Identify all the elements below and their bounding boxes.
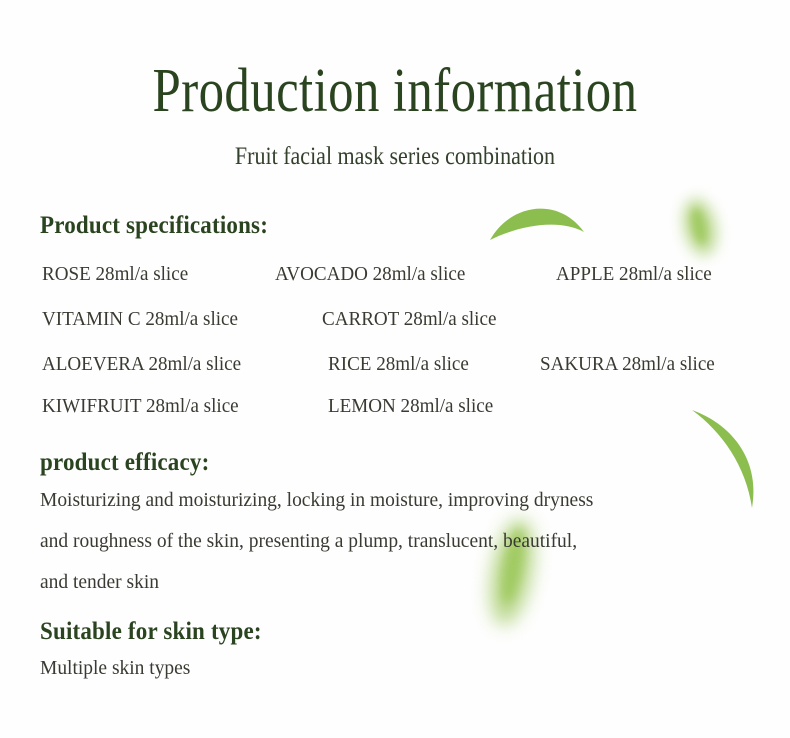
content-layer: Production information Fruit facial mask… (0, 0, 790, 738)
skin-type-line: Multiple skin types (40, 655, 190, 681)
section-heading-specifications: Product specifications: (40, 211, 268, 241)
spec-item-lemon: LEMON 28ml/a slice (328, 393, 493, 419)
specification-row: ALOEVERA 28ml/a slice RICE 28ml/a slice … (0, 351, 790, 377)
spec-item-carrot: CARROT 28ml/a slice (322, 306, 496, 332)
spec-item-aloevera: ALOEVERA 28ml/a slice (42, 351, 241, 377)
section-heading-efficacy: product efficacy: (40, 448, 209, 478)
specification-row: VITAMIN C 28ml/a slice CARROT 28ml/a sli… (0, 306, 790, 332)
spec-item-rice: RICE 28ml/a slice (328, 351, 469, 377)
spec-item-sakura: SAKURA 28ml/a slice (540, 351, 715, 377)
efficacy-line: and tender skin (40, 569, 159, 595)
section-heading-skin-type: Suitable for skin type: (40, 617, 262, 647)
product-information-page: Production information Fruit facial mask… (0, 0, 790, 738)
spec-item-kiwifruit: KIWIFRUIT 28ml/a slice (42, 393, 239, 419)
page-title: Production information (71, 56, 719, 126)
specification-row: KIWIFRUIT 28ml/a slice LEMON 28ml/a slic… (0, 393, 790, 419)
efficacy-line: and roughness of the skin, presenting a … (40, 528, 577, 554)
page-subtitle: Fruit facial mask series combination (47, 142, 742, 172)
spec-item-rose: ROSE 28ml/a slice (42, 261, 188, 287)
specification-row: ROSE 28ml/a slice AVOCADO 28ml/a slice A… (0, 261, 790, 287)
spec-item-avocado: AVOCADO 28ml/a slice (275, 261, 465, 287)
spec-item-vitamin-c: VITAMIN C 28ml/a slice (42, 306, 238, 332)
spec-item-apple: APPLE 28ml/a slice (556, 261, 712, 287)
efficacy-line: Moisturizing and moisturizing, locking i… (40, 487, 593, 513)
